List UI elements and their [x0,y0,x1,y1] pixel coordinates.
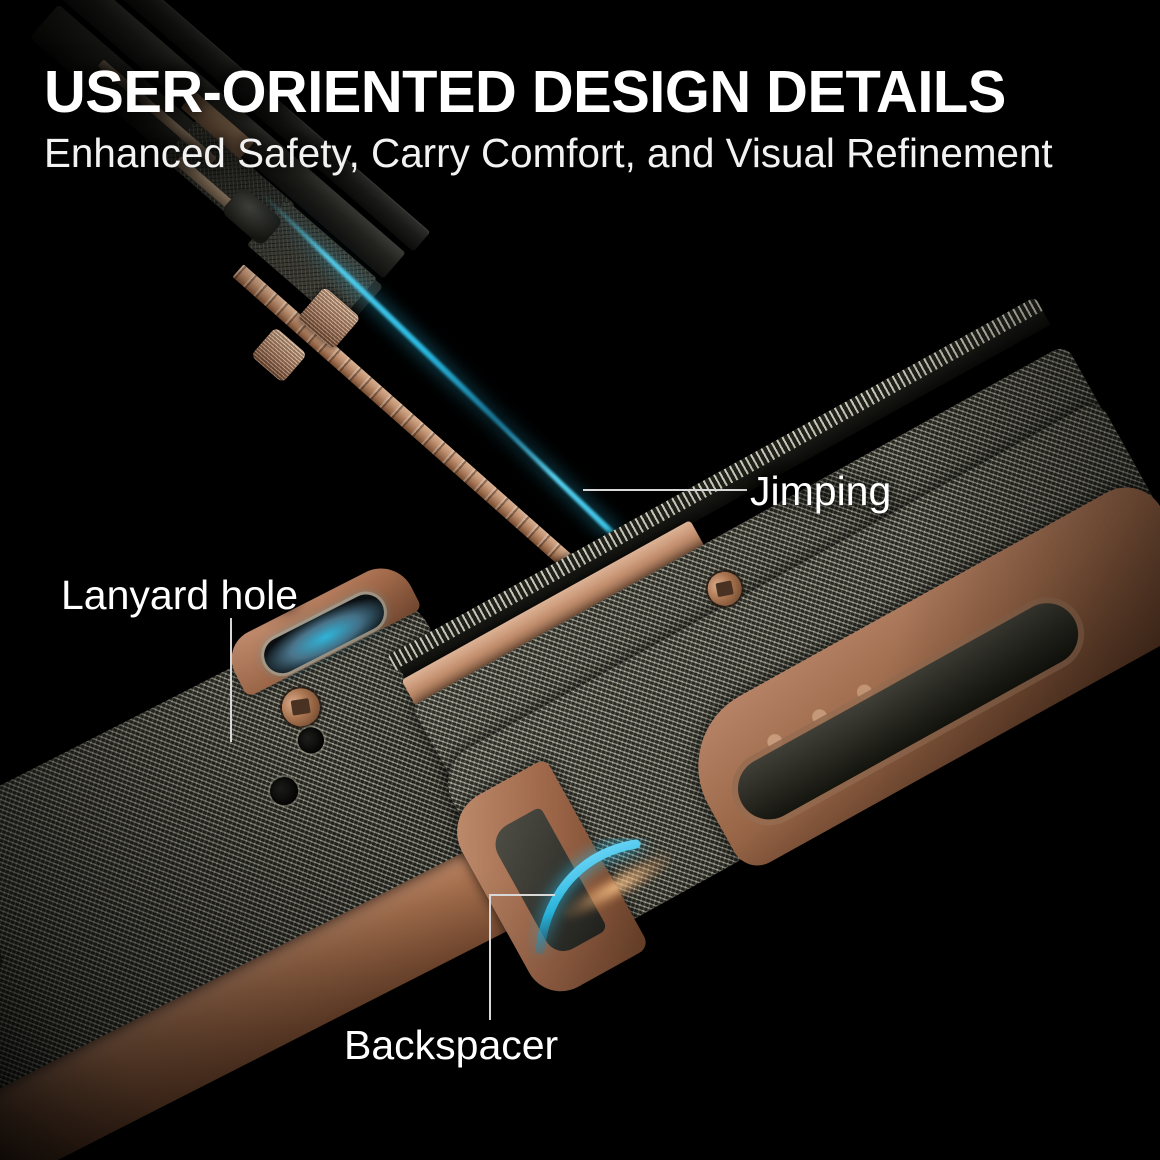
callout-label-jimping: Jimping [750,468,891,515]
page-title: USER-ORIENTED DESIGN DETAILS [44,58,1006,126]
callout-leader-line-lanyard-hole [230,618,232,742]
cyan-glow-arc-icon [528,838,658,968]
product-detail-infographic: USER-ORIENTED DESIGN DETAILS Enhanced Sa… [0,0,1160,1160]
callout-label-lanyard-hole: Lanyard hole [61,572,298,619]
callout-leader-line-jimping [583,489,747,491]
page-subtitle: Enhanced Safety, Carry Comfort, and Visu… [44,130,1053,177]
callout-leader-line-backspacer-horizontal [489,894,555,896]
callout-label-backspacer: Backspacer [344,1022,558,1069]
callout-leader-line-backspacer-vertical [489,894,491,1020]
